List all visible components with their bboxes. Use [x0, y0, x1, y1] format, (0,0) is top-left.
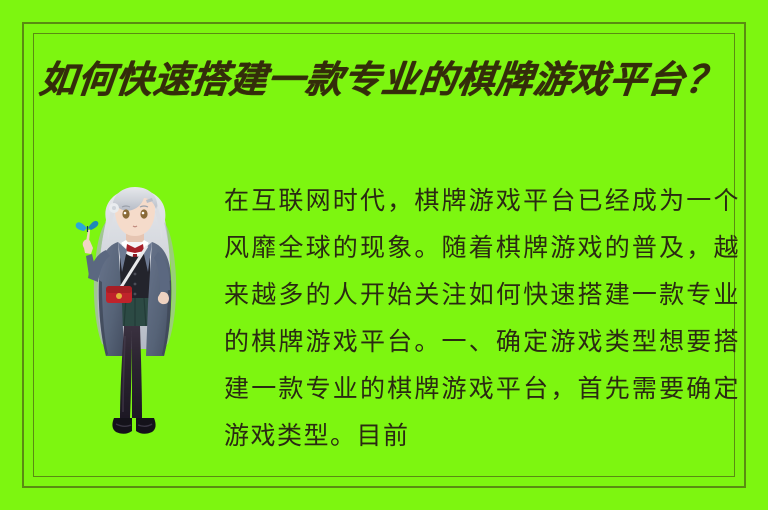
eye-left [122, 209, 129, 218]
article-body: 在互联网时代，棋牌游戏平台已经成为一个风靡全球的现象。随着棋牌游戏的普及，越来越… [224, 178, 740, 460]
bag-flap [106, 286, 132, 293]
butterfly-icon [76, 221, 99, 232]
anime-girl-illustration [62, 186, 208, 464]
vest-button-3 [134, 293, 137, 296]
vest-button-2 [134, 283, 137, 286]
eye-highlight-right [142, 212, 145, 215]
page-title: 如何快速搭建一款专业的棋牌游戏平台？ [37, 56, 742, 106]
bag-charm [116, 293, 122, 299]
eye-right [140, 209, 147, 218]
vest-button-1 [134, 273, 137, 276]
poster-canvas: 如何快速搭建一款专业的棋牌游戏平台？ 在互联网时代，棋牌游戏平台已经成为一个风靡… [0, 0, 768, 510]
hair-flower-center [112, 206, 116, 210]
character-svg [62, 186, 208, 464]
eye-highlight-left [124, 212, 127, 215]
